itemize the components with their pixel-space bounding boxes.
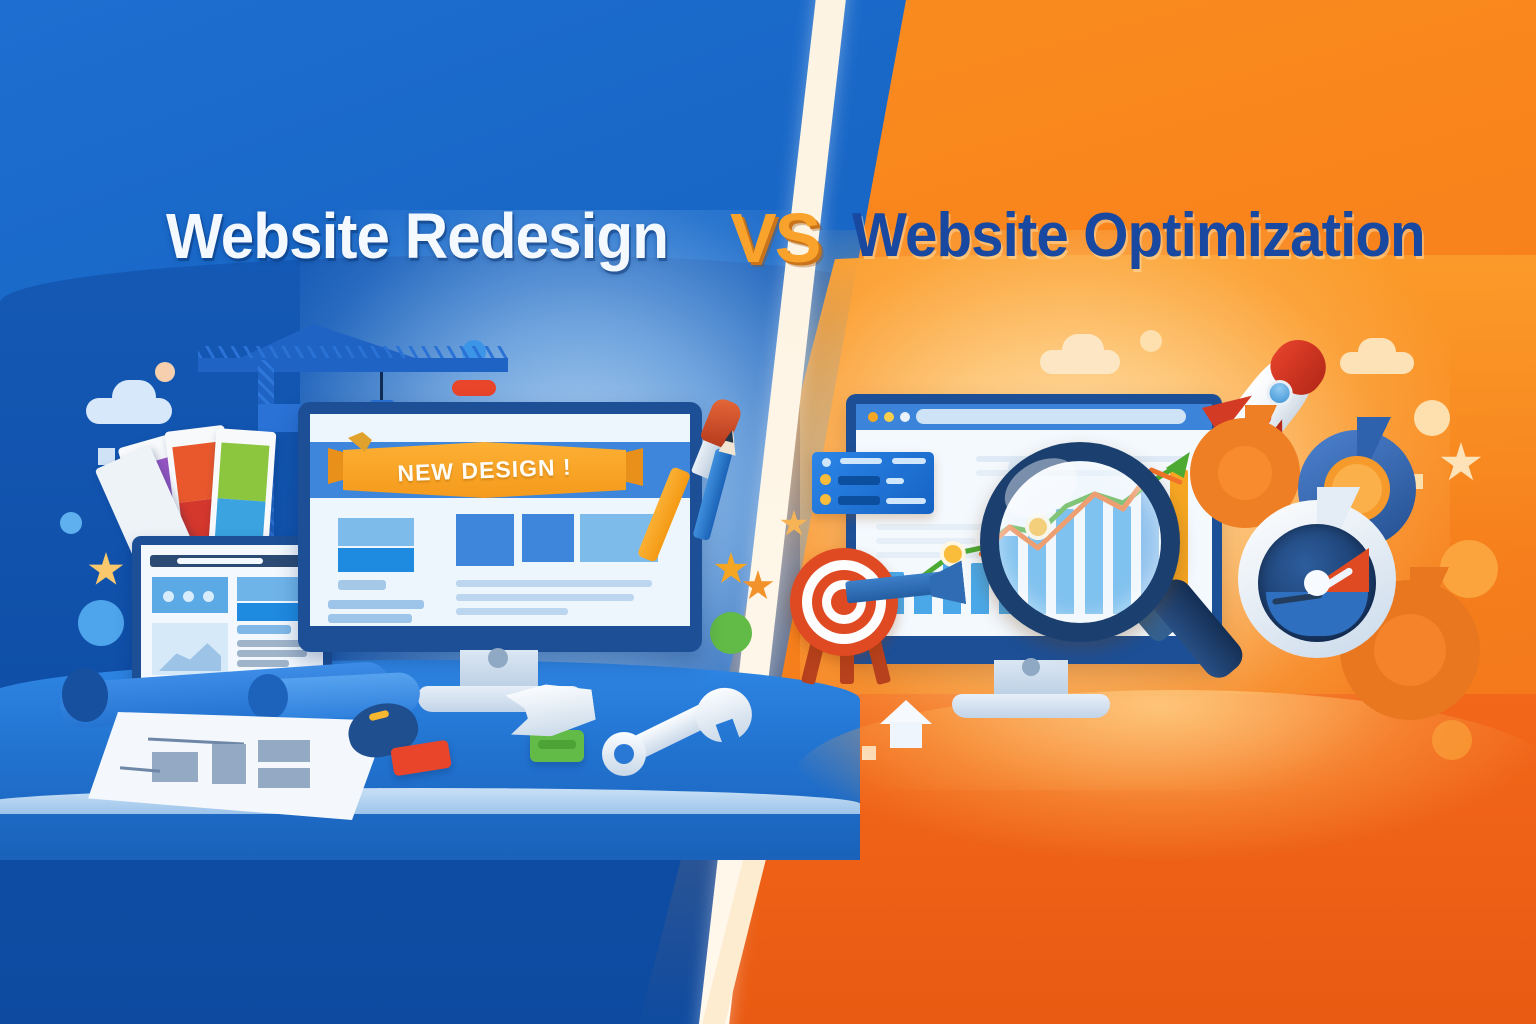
title-right: Website Optimization xyxy=(852,186,1425,286)
cloud-icon xyxy=(1062,334,1104,366)
circle-decor xyxy=(1140,330,1162,352)
cloud-icon xyxy=(1358,338,1396,366)
title-vs: VS xyxy=(730,188,819,288)
circle-decor xyxy=(155,362,175,382)
circle-decor xyxy=(60,512,82,534)
pill-decor xyxy=(452,380,496,396)
title-left: Website Redesign xyxy=(166,186,668,286)
house-icon xyxy=(880,700,932,746)
cloud-icon xyxy=(112,380,156,414)
circle-decor xyxy=(78,600,124,646)
banner-canvas: Website Redesign VS Website Optimization xyxy=(0,0,1536,1024)
ribbon-label: NEW DESIGN ! xyxy=(342,437,627,504)
banner-title: Website Redesign VS Website Optimization xyxy=(0,186,1536,290)
circle-decor xyxy=(710,612,752,654)
